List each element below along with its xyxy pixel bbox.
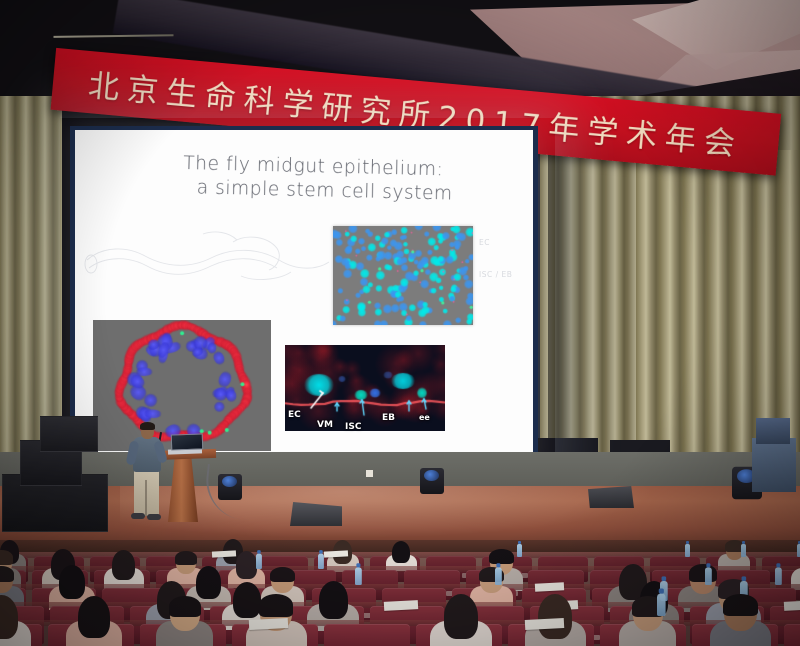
slide-title-line-1: The fly midgut epithelium: [183,153,444,180]
handout-paper[interactable] [248,618,287,630]
water-bottle[interactable] [517,544,522,557]
label-ee: ee [419,413,430,422]
slide-title: The fly midgut epithelium: a simple stem… [182,152,513,209]
audience-member-hair [78,596,110,637]
podium-body [168,458,198,522]
label-isc: ISC [345,422,361,432]
moving-head-light-2 [420,468,444,494]
projection-screen: The fly midgut epithelium: a simple stem… [75,130,533,464]
amp-rack-right [752,438,796,492]
audience-member-hair [169,596,201,617]
water-bottle[interactable] [495,567,502,585]
presenter-shoe-left [131,513,145,519]
handout-paper[interactable] [784,600,800,611]
stage-wall-marker [366,470,373,477]
podium [160,450,210,522]
audience-member-hair [723,594,757,616]
label-vm: VM [317,420,333,430]
water-bottle[interactable] [775,567,782,585]
audience-seat[interactable] [324,624,410,646]
speaker-cabinet-top-left [40,416,98,452]
audience-member-hair [0,550,13,564]
audience-member-hair [59,565,85,599]
auditorium-scene: 北京生命科学研究所2017年学术年会 The fly midgut epithe… [0,0,800,646]
audience-member-hair [175,551,197,565]
slide-legend-line-1: EC [479,238,490,247]
label-eb: EB [382,413,395,423]
audience-member-hair [538,594,572,639]
audience-seat[interactable] [784,624,800,646]
audience-member-hair [319,581,348,619]
presenter-leg-split [145,480,147,516]
nuclei-field-micrograph [333,226,473,325]
water-bottle[interactable] [355,567,362,585]
slide-legend-line-2: ISC / EB [479,270,512,279]
presenter-hair [140,422,155,430]
presenter-shoe-right [147,514,161,520]
audience-member-hair [392,541,410,564]
audience-member-hair [270,567,295,583]
fly-gut-sketch-icon [83,226,333,296]
laptop-screen [171,433,204,450]
water-bottle[interactable] [318,553,324,568]
audience-member-hair [689,564,717,582]
handout-paper[interactable] [384,600,418,611]
stage-monitor-right [588,486,634,508]
banner-rope [53,34,173,38]
handout-paper[interactable] [524,618,563,630]
handout-paper[interactable] [534,582,564,592]
handout-paper[interactable] [324,550,348,557]
water-bottle[interactable] [685,544,690,557]
water-bottle[interactable] [741,544,746,557]
gut-cross-section-micrograph [93,320,271,451]
label-ec: EC [288,410,301,420]
audience-member-hair [259,594,293,616]
audience-member-hair [233,582,261,618]
audience-member-hair [196,566,222,599]
audience-member-hair [444,594,478,639]
audience-member-hair [236,551,258,578]
water-bottle[interactable] [705,567,712,585]
slide-title-line-2: a simple stem cell system [182,176,512,208]
amp-rack-right-top [756,418,790,444]
stage-front-wall [0,452,800,490]
audience-member-hair [489,549,514,565]
handout-paper[interactable] [212,550,236,557]
water-bottle[interactable] [657,594,666,616]
audience-member-hair [112,550,135,580]
water-bottle[interactable] [256,553,262,568]
